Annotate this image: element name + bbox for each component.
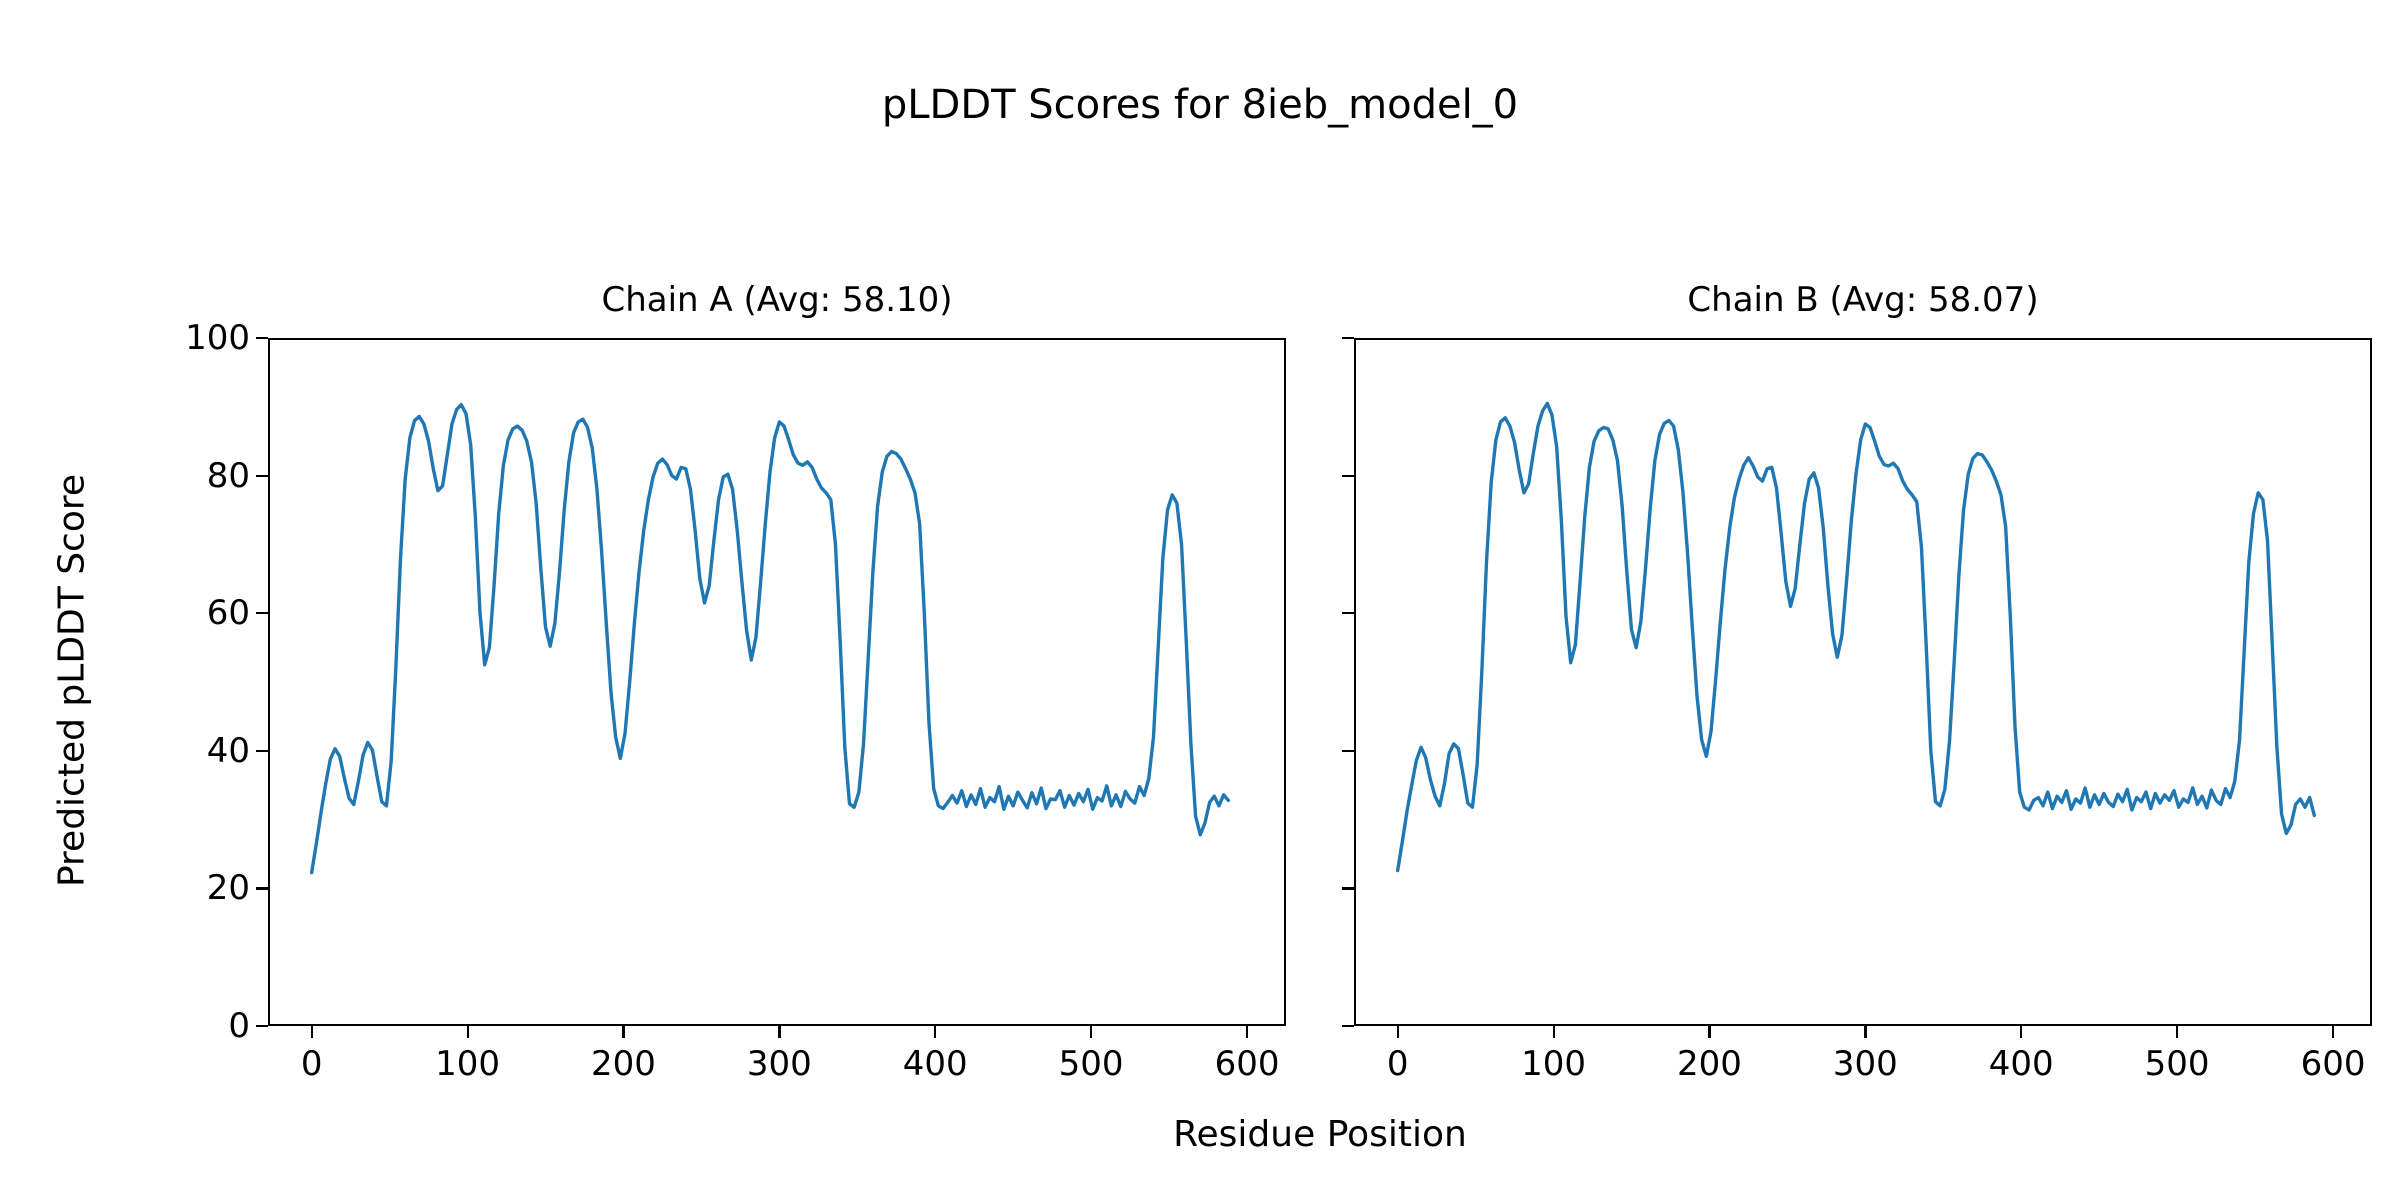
x-tick-label: 0 (1387, 1044, 1409, 1084)
x-tick-label: 300 (1833, 1044, 1898, 1084)
x-tick-label: 0 (301, 1044, 323, 1084)
x-tick-mark (2176, 1026, 2178, 1038)
plddt-line-chain-a (312, 405, 1229, 873)
plot-panel-chain-b: Chain B (Avg: 58.07)0100200300400500600 (1354, 338, 2372, 1026)
y-tick-mark (256, 612, 268, 614)
figure-canvas: pLDDT Scores for 8ieb_model_0 Predicted … (0, 0, 2400, 1200)
x-tick-mark (934, 1026, 936, 1038)
x-tick-mark (2332, 1026, 2334, 1038)
x-tick-label: 100 (435, 1044, 500, 1084)
plot-area-chain-a (268, 338, 1286, 1026)
x-tick-mark (2020, 1026, 2022, 1038)
x-axis-label: Residue Position (268, 1114, 2372, 1155)
y-tick-mark (256, 337, 268, 339)
x-tick-label: 400 (903, 1044, 968, 1084)
x-tick-mark (1708, 1026, 1710, 1038)
y-tick-mark (1342, 887, 1354, 889)
x-tick-label: 600 (1215, 1044, 1280, 1084)
x-tick-label: 300 (747, 1044, 812, 1084)
x-tick-mark (1397, 1026, 1399, 1038)
y-tick-label: 0 (228, 1006, 250, 1046)
x-tick-label: 600 (2301, 1044, 2366, 1084)
plot-area-chain-b (1354, 338, 2372, 1026)
x-tick-mark (778, 1026, 780, 1038)
x-tick-label: 500 (2145, 1044, 2210, 1084)
y-tick-mark (256, 475, 268, 477)
figure-suptitle: pLDDT Scores for 8ieb_model_0 (0, 82, 2400, 128)
x-tick-label: 500 (1059, 1044, 1124, 1084)
x-tick-mark (622, 1026, 624, 1038)
x-tick-label: 200 (591, 1044, 656, 1084)
y-tick-mark (256, 1025, 268, 1027)
x-tick-label: 400 (1989, 1044, 2054, 1084)
x-tick-mark (467, 1026, 469, 1038)
subplot-title-chain-a: Chain A (Avg: 58.10) (268, 280, 1286, 320)
y-tick-mark (1342, 750, 1354, 752)
y-tick-mark (1342, 337, 1354, 339)
y-tick-mark (256, 750, 268, 752)
y-tick-label: 40 (207, 731, 250, 771)
y-tick-mark (1342, 475, 1354, 477)
y-tick-mark (1342, 1025, 1354, 1027)
subplot-title-chain-b: Chain B (Avg: 58.07) (1354, 280, 2372, 320)
x-tick-mark (1090, 1026, 1092, 1038)
plot-panel-chain-a: Chain A (Avg: 58.10)02040608010001002003… (268, 338, 1286, 1026)
x-tick-label: 100 (1521, 1044, 1586, 1084)
plddt-line-chain-b (1398, 403, 2315, 870)
x-tick-mark (311, 1026, 313, 1038)
y-tick-mark (256, 887, 268, 889)
y-tick-mark (1342, 612, 1354, 614)
y-tick-label: 100 (185, 318, 250, 358)
y-tick-label: 60 (207, 593, 250, 633)
x-tick-mark (1246, 1026, 1248, 1038)
x-tick-mark (1553, 1026, 1555, 1038)
y-tick-label: 80 (207, 456, 250, 496)
y-axis-label: Predicted pLDDT Score (52, 337, 93, 1025)
y-tick-label: 20 (207, 868, 250, 908)
x-tick-label: 200 (1677, 1044, 1742, 1084)
x-tick-mark (1864, 1026, 1866, 1038)
